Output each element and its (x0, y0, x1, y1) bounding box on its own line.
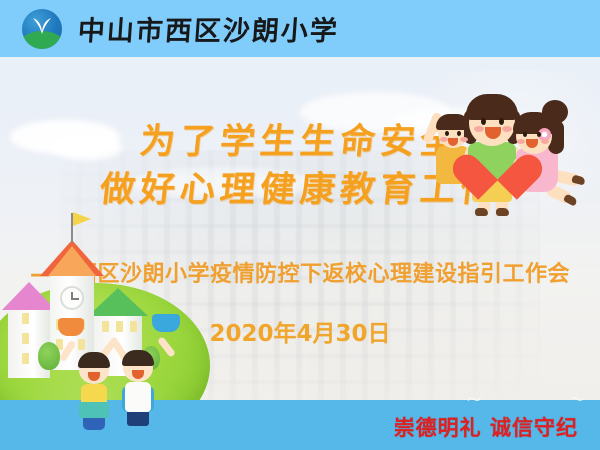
presentation-slide: 中山市西区沙朗小学 (0, 0, 600, 450)
cloud-decoration (130, 168, 320, 198)
held-bag-blue (152, 314, 180, 332)
cheering-children-illustration (412, 84, 592, 216)
school-crest-bird-icon (22, 9, 62, 49)
header-bar: 中山市西区沙朗小学 (0, 0, 600, 57)
seagull-icon: 〜 (571, 393, 585, 407)
roof-green (88, 288, 148, 316)
tree-icon (38, 342, 60, 370)
tower-roof-inner (48, 246, 96, 276)
school-motto: 崇德明礼 诚信守纪 (394, 412, 578, 442)
school-name-title: 中山市西区沙朗小学 (77, 9, 341, 48)
red-heart-icon (470, 136, 524, 188)
seagull-icon: 〜 (466, 392, 483, 408)
flag-icon (73, 212, 91, 226)
cloud-decoration (52, 134, 122, 160)
roof-pink (2, 282, 56, 310)
held-bag-orange (58, 318, 84, 336)
clock-icon (60, 286, 84, 310)
